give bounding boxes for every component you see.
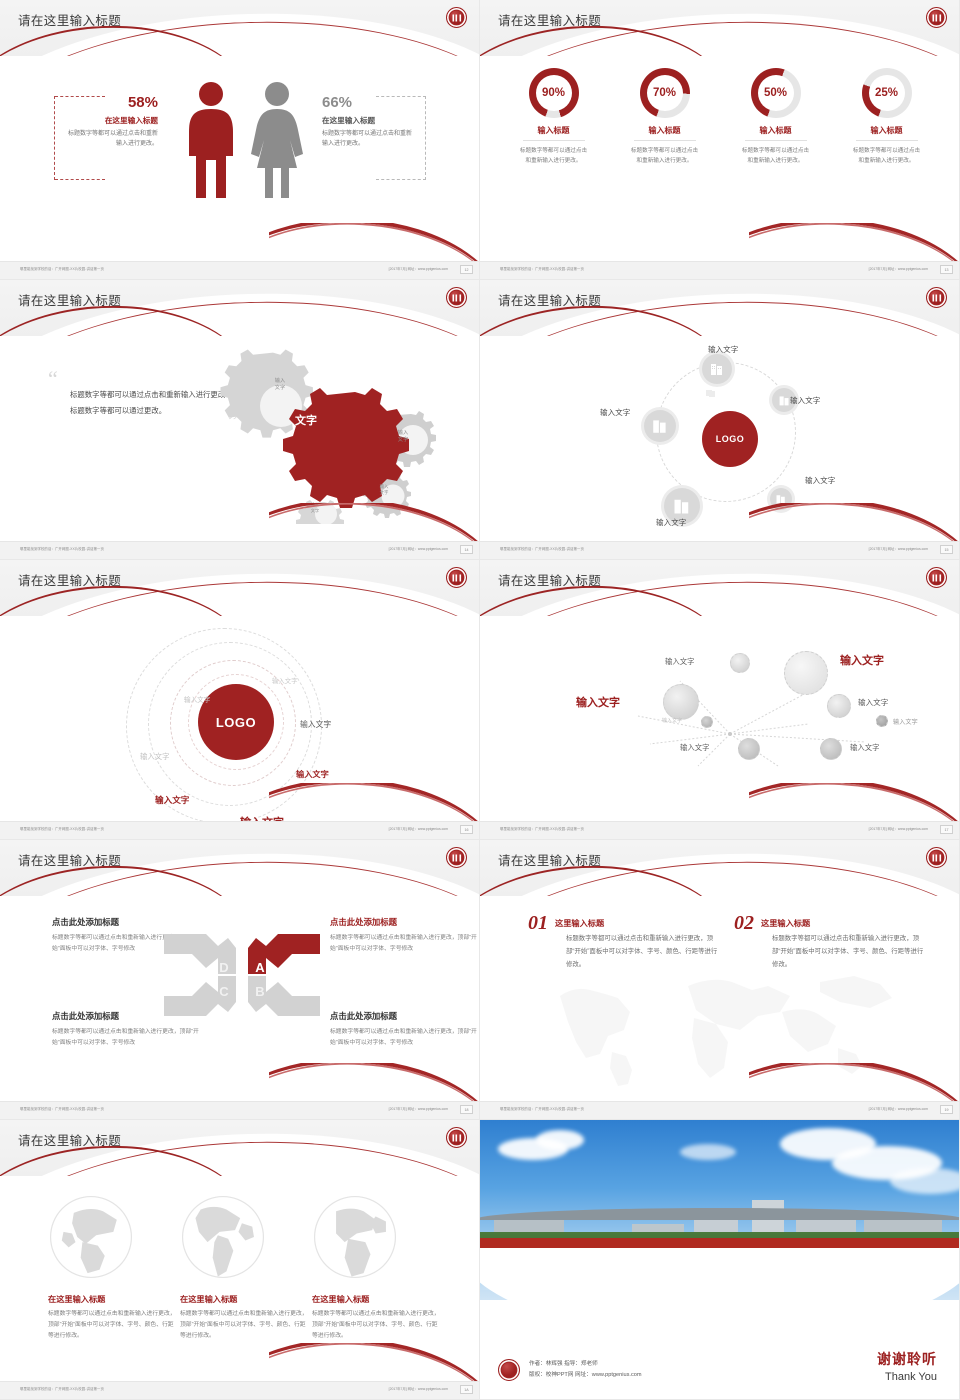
university-seal-icon xyxy=(446,847,467,868)
svg-text:C: C xyxy=(219,984,229,999)
female-figure-icon xyxy=(248,80,306,200)
hub-label-left: 输入文字 xyxy=(600,407,630,418)
orbit-label-1: 输入文字 xyxy=(272,676,298,685)
donut-item[interactable]: 50% 输入标题 标题数字等都可以通过点击和重新输入进行更改。 xyxy=(726,68,826,166)
network-node-4[interactable] xyxy=(827,694,851,718)
page-title: 请在这里输入标题 xyxy=(18,850,121,869)
point-block-02[interactable]: 02 这里输入标题 标题数字等都可以通过点击和重新输入进行更改，顶部“开始”面板… xyxy=(734,912,924,971)
page-number: 18 xyxy=(460,1105,473,1114)
cloud-2 xyxy=(536,1130,584,1150)
donut-heading: 输入标题 xyxy=(634,125,696,141)
quadrant-heading: 点击此处添加标题 xyxy=(330,1010,480,1022)
campus-photo xyxy=(480,1120,960,1300)
network-label-5: 输入文字 xyxy=(662,717,682,724)
footer-left-text: 哪里能找到学校的话：广开网图-XX片校园-讲话第一页 xyxy=(500,1106,584,1111)
slide-footer: 哪里能找到学校的话：广开网图-XX片校园-讲话第一页 [2017年7月] 网址：… xyxy=(0,1381,480,1399)
footer-right-text: [2017年7月] 网址：www.pptgenius.com xyxy=(869,266,928,271)
male-percent: 58% xyxy=(68,94,158,111)
point-number: 02 xyxy=(734,912,754,935)
male-heading: 在这里输入标题 xyxy=(68,115,158,126)
credit-text: 作者：林辉强 指导：郑老师 版权：校神PPT网 网址：www.pptgenius… xyxy=(529,1359,642,1380)
thanks-area: 谢谢聆听 Thank You xyxy=(877,1349,937,1383)
university-seal-icon xyxy=(446,287,467,308)
slide-deck-grid: 请在这里输入标题 58% 在这里输入标题 标题数字等都可以通过点击和重新输入进行… xyxy=(0,0,960,1400)
donut-value: 50% xyxy=(751,68,801,118)
footer-left-text: 哪里能找到学校的话：广开网图-XX片校园-讲话第一页 xyxy=(500,546,584,551)
thanks-english: Thank You xyxy=(877,1371,937,1383)
gear-center-label: 文字 xyxy=(278,412,334,428)
slide-7-four-quadrant[interactable]: 请在这里输入标题 点击此处添加标题 标题数字等都可以通过点击和重新输入进行更改，… xyxy=(0,840,480,1120)
point-body: 标题数字等都可以通过点击和重新输入进行更改，顶部“开始”面板中可以对字体、字号、… xyxy=(772,933,924,971)
gear-cluster-graphic xyxy=(215,344,465,524)
network-label-3: 输入文字 xyxy=(576,694,620,710)
quote-text: 标题数字等都可以通过点击和重新输入进行更改标题数字等都可以通过更改。 xyxy=(70,387,228,418)
female-heading: 在这里输入标题 xyxy=(322,115,412,126)
university-seal-icon xyxy=(446,567,467,588)
svg-text:D: D xyxy=(219,960,228,975)
footer-right-text: [2017年7月] 网址：www.pptgenius.com xyxy=(389,266,448,271)
globe-heading: 在这里输入标题 xyxy=(48,1293,178,1305)
slide-10-thank-you[interactable]: 作者：林辉强 指导：郑老师 版权：校神PPT网 网址：www.pptgenius… xyxy=(480,1120,960,1400)
quadrant-body: 标题数字等都可以通过点击和重新输入进行更改，顶部“开始”面板中可以对字体、字号修… xyxy=(330,933,480,954)
slide-body: “ 标题数字等都可以通过点击和重新输入进行更改标题数字等都可以通过更改。 ” xyxy=(0,336,480,542)
slide-footer: 哪里能找到学校的话：广开网图-XX片校园-讲话第一页 [2017年7月] 网址：… xyxy=(0,541,480,559)
university-seal-icon xyxy=(926,7,947,28)
slide-8-two-points[interactable]: 请在这里输入标题 01 这里输入标题 xyxy=(480,840,960,1120)
slide-1-gender-stats[interactable]: 请在这里输入标题 58% 在这里输入标题 标题数字等都可以通过点击和重新输入进行… xyxy=(0,0,480,280)
donut-ring-50: 50% xyxy=(751,68,801,118)
quadrant-heading: 点击此处添加标题 xyxy=(330,916,480,928)
female-percent: 66% xyxy=(322,94,412,111)
hub-label-bottom: 输入文字 xyxy=(656,517,686,528)
donut-ring-25: 25% xyxy=(862,68,912,118)
slide-footer: 哪里能找到学校的话：广开网图-XX片校园-讲话第一页 [2017年7月] 网址：… xyxy=(0,821,480,839)
globe-heading: 在这里输入标题 xyxy=(312,1293,442,1305)
network-node-3[interactable] xyxy=(663,684,699,720)
donut-body: 标题数字等都可以通过点击和重新输入进行更改。 xyxy=(726,146,826,166)
svg-text:A: A xyxy=(255,960,265,975)
globe-body: 标题数字等都可以通过点击和重新输入进行更改，顶部“开始”面板中可以对字体、字号、… xyxy=(312,1309,442,1342)
network-node-1[interactable] xyxy=(730,653,750,673)
page-number: 16 xyxy=(460,825,473,834)
slide-body: 58% 在这里输入标题 标题数字等都可以通过点击和重新输入进行更改。 66% 在… xyxy=(0,56,480,262)
point-body: 标题数字等都可以通过点击和重新输入进行更改，顶部“开始”面板中可以对字体、字号、… xyxy=(566,933,718,971)
credit-line-copyright: 版权：校神PPT网 网址：www.pptgenius.com xyxy=(529,1370,642,1381)
donut-body: 标题数字等都可以通过点击和重新输入进行更改。 xyxy=(837,146,937,166)
footer-left-text: 哪里能找到学校的话：广开网图-XX片校园-讲话第一页 xyxy=(20,1386,104,1391)
slide-body: 点击此处添加标题 标题数字等都可以通过点击和重新输入进行更改，顶部“开始”面板中… xyxy=(0,896,480,1102)
donut-item[interactable]: 70% 输入标题 标题数字等都可以通过点击和重新输入进行更改。 xyxy=(615,68,715,166)
page-title: 请在这里输入标题 xyxy=(498,290,601,309)
network-node-7[interactable] xyxy=(738,738,760,760)
slide-body: 输入文字 输入文字 输入文字 输入文字 输入文字 输入文字 输入文字 输入文字 xyxy=(480,616,960,822)
quote-open-icon: “ xyxy=(48,372,228,385)
network-label-6: 输入文字 xyxy=(893,717,918,726)
donut-value: 25% xyxy=(862,68,912,118)
thanks-chinese: 谢谢聆听 xyxy=(877,1349,937,1369)
hub-node-right-bottom[interactable] xyxy=(770,488,792,510)
building-icon xyxy=(775,493,787,505)
globe-asia-icon xyxy=(48,1194,134,1280)
slide-2-donut-stats[interactable]: 请在这里输入标题 90% 输入标题 标题数字等都可以通过点击和重新输入进行更改。… xyxy=(480,0,960,280)
globe-block-2[interactable]: 在这里输入标题 标题数字等都可以通过点击和重新输入进行更改，顶部“开始”面板中可… xyxy=(180,1194,310,1342)
world-map-background xyxy=(520,956,920,1086)
slide-4-logo-hub[interactable]: 请在这里输入标题 LOGO 输入文字 输入文字 xyxy=(480,280,960,560)
network-node-8[interactable] xyxy=(820,738,842,760)
male-figure-icon xyxy=(182,80,240,200)
page-title: 请在这里输入标题 xyxy=(18,10,121,29)
globe-africa-icon xyxy=(312,1194,398,1280)
university-seal-icon xyxy=(446,1127,467,1148)
network-label-2: 输入文字 xyxy=(840,652,884,668)
people-infographic: 58% 在这里输入标题 标题数字等都可以通过点击和重新输入进行更改。 66% 在… xyxy=(40,74,440,224)
quadrant-heading: 点击此处添加标题 xyxy=(52,916,202,928)
abcd-arrow-graphic: D A C B xyxy=(162,928,322,1022)
quadrant-body: 标题数字等都可以通过点击和重新输入进行更改，顶部“开始”面板中可以对字体、字号修… xyxy=(330,1027,480,1048)
globe-body: 标题数字等都可以通过点击和重新输入进行更改，顶部“开始”面板中可以对字体、字号、… xyxy=(180,1309,310,1342)
hub-label-right-bottom: 输入文字 xyxy=(805,475,835,486)
university-seal-icon xyxy=(926,287,947,308)
page-number: 14 xyxy=(460,545,473,554)
slide-footer: 哪里能找到学校的话：广开网图-XX片校园-讲话第一页 [2017年7月] 网址：… xyxy=(480,541,960,559)
donut-chart-row: 90% 输入标题 标题数字等都可以通过点击和重新输入进行更改。 70% 输入标题… xyxy=(498,68,942,166)
university-seal-icon xyxy=(926,567,947,588)
network-node-5[interactable] xyxy=(701,716,713,728)
footer-right-text: [2017年7月] 网址：www.pptgenius.com xyxy=(869,1106,928,1111)
donut-body: 标题数字等都可以通过点击和重新输入进行更改。 xyxy=(504,146,604,166)
network-label-7: 输入文字 xyxy=(680,742,710,753)
orbit-label-4: 输入文字 xyxy=(140,751,170,762)
footer-right-text: [2017年7月] 网址：www.pptgenius.com xyxy=(389,826,448,831)
university-seal-icon xyxy=(926,847,947,868)
svg-text:B: B xyxy=(255,984,264,999)
donut-item[interactable]: 90% 输入标题 标题数字等都可以通过点击和重新输入进行更改。 xyxy=(504,68,604,166)
photo-white-curve xyxy=(480,1248,960,1300)
globe-heading: 在这里输入标题 xyxy=(180,1293,310,1305)
building-icon xyxy=(651,417,669,435)
donut-ring-90: 90% xyxy=(529,68,579,118)
female-stat-column[interactable]: 66% 在这里输入标题 标题数字等都可以通过点击和重新输入进行更改。 xyxy=(322,94,412,150)
slide-5-concentric-logo[interactable]: 请在这里输入标题 LOGO 输入文字 输入文字 输入文字 输入文字 输入文字 输… xyxy=(0,560,480,840)
page-title: 请在这里输入标题 xyxy=(498,850,601,869)
page-title: 请在这里输入标题 xyxy=(498,10,601,29)
slide-body: 90% 输入标题 标题数字等都可以通过点击和重新输入进行更改。 70% 输入标题… xyxy=(480,56,960,262)
network-node-2[interactable] xyxy=(784,651,828,695)
slide-footer: 哪里能找到学校的话：广开网图-XX片校园-讲话第一页 [2017年7月] 网址：… xyxy=(480,1101,960,1119)
footer-left-text: 哪里能找到学校的话：广开网图-XX片校园-讲话第一页 xyxy=(20,546,104,551)
network-label-1: 输入文字 xyxy=(665,656,695,667)
hub-node-left[interactable] xyxy=(644,410,676,442)
slide-body: 在这里输入标题 标题数字等都可以通过点击和重新输入进行更改，顶部“开始”面板中可… xyxy=(0,1176,480,1382)
footer-left-text: 哪里能找到学校的话：广开网图-XX片校园-讲话第一页 xyxy=(20,826,104,831)
hub-label-right-top: 输入文字 xyxy=(790,395,820,406)
page-number: 19 xyxy=(940,1105,953,1114)
male-body: 标题数字等都可以通过点击和重新输入进行更改。 xyxy=(68,130,158,150)
cloud-3 xyxy=(680,1144,736,1160)
donut-value: 90% xyxy=(529,68,579,118)
globe-americas-icon xyxy=(180,1194,266,1280)
quote-block: “ 标题数字等都可以通过点击和重新输入进行更改标题数字等都可以通过更改。 ” xyxy=(48,372,228,425)
network-label-4: 输入文字 xyxy=(858,697,888,708)
footer-right-text: [2017年7月] 网址：www.pptgenius.com xyxy=(389,1106,448,1111)
page-number: 1A xyxy=(460,1385,473,1394)
donut-item[interactable]: 25% 输入标题 标题数字等都可以通过点击和重新输入进行更改。 xyxy=(837,68,937,166)
globe-body: 标题数字等都可以通过点击和重新输入进行更改，顶部“开始”面板中可以对字体、字号、… xyxy=(48,1309,178,1342)
page-number: 13 xyxy=(940,265,953,274)
footer-left-text: 哪里能找到学校的话：广开网图-XX片校园-讲话第一页 xyxy=(20,1106,104,1111)
page-number: 15 xyxy=(940,545,953,554)
slide-footer: 哪里能找到学校的话：广开网图-XX片校园-讲话第一页 [2017年7月] 网址：… xyxy=(480,821,960,839)
orbit-label-6: 输入文字 xyxy=(155,794,189,806)
quadrant-block-bottom-right[interactable]: 点击此处添加标题 标题数字等都可以通过点击和重新输入进行更改，顶部“开始”面板中… xyxy=(330,1010,480,1048)
point-number: 01 xyxy=(528,912,548,935)
footer-left-text: 哪里能找到学校的话：广开网图-XX片校园-讲话第一页 xyxy=(500,826,584,831)
gear-label-top: 输入文字 xyxy=(258,378,302,392)
slide-footer: 哪里能找到学校的话：广开网图-XX片校园-讲话第一页 [2017年7月] 网址：… xyxy=(0,1101,480,1119)
quote-close-icon: ” xyxy=(48,418,238,425)
donut-body: 标题数字等都可以通过点击和重新输入进行更改。 xyxy=(615,146,715,166)
page-title: 请在这里输入标题 xyxy=(18,1130,121,1149)
donut-heading: 输入标题 xyxy=(523,125,585,141)
university-seal-icon xyxy=(446,7,467,28)
slide-body: LOGO 输入文字 输入文字 输入文字 输入文字 输入文字 xyxy=(480,336,960,542)
orbit-label-3: 输入文字 xyxy=(300,719,331,730)
donut-ring-70: 70% xyxy=(640,68,690,118)
page-number: 17 xyxy=(940,825,953,834)
footer-right-text: [2017年7月] 网址：www.pptgenius.com xyxy=(869,546,928,551)
network-node-6[interactable] xyxy=(876,715,888,727)
credit-area: 作者：林辉强 指导：郑老师 版权：校神PPT网 网址：www.pptgenius… xyxy=(498,1359,642,1381)
quadrant-block-top-right[interactable]: 点击此处添加标题 标题数字等都可以通过点击和重新输入进行更改，顶部“开始”面板中… xyxy=(330,916,480,954)
orbit-label-2: 输入文字 xyxy=(184,694,210,704)
slide-3-gears[interactable]: 请在这里输入标题 “ 标题数字等都可以通过点击和重新输入进行更改标题数字等都可以… xyxy=(0,280,480,560)
hub-label-top: 输入文字 xyxy=(708,344,738,355)
footer-right-text: [2017年7月] 网址：www.pptgenius.com xyxy=(389,546,448,551)
slide-footer: 哪里能找到学校的话：广开网图-XX片校园-讲话第一页 [2017年7月] 网址：… xyxy=(480,261,960,279)
center-logo[interactable]: LOGO xyxy=(702,411,758,467)
male-stat-column[interactable]: 58% 在这里输入标题 标题数字等都可以通过点击和重新输入进行更改。 xyxy=(68,94,158,150)
slide-footer: 哪里能找到学校的话：广开网图-XX片校园-讲话第一页 [2017年7月] 网址：… xyxy=(0,261,480,279)
footer-left-text: 哪里能找到学校的话：广开网图-XX片校园-讲话第一页 xyxy=(20,266,104,271)
cloud-6 xyxy=(890,1168,960,1194)
page-title: 请在这里输入标题 xyxy=(498,570,601,589)
network-label-8: 输入文字 xyxy=(850,742,880,753)
university-seal-icon xyxy=(498,1359,520,1381)
donut-value: 70% xyxy=(640,68,690,118)
slide-6-network[interactable]: 请在这里输入标题 xyxy=(480,560,960,840)
building-icon xyxy=(672,496,692,516)
page-title: 请在这里输入标题 xyxy=(18,290,121,309)
credit-line-author: 作者：林辉强 指导：郑老师 xyxy=(529,1359,642,1370)
point-heading: 这里输入标题 xyxy=(555,917,604,929)
hub-node-top[interactable] xyxy=(702,354,732,384)
page-number: 12 xyxy=(460,265,473,274)
footer-right-text: [2017年7月] 网址：www.pptgenius.com xyxy=(869,826,928,831)
point-heading: 这里输入标题 xyxy=(761,917,810,929)
globe-block-1[interactable]: 在这里输入标题 标题数字等都可以通过点击和重新输入进行更改，顶部“开始”面板中可… xyxy=(48,1194,178,1342)
right-bracket xyxy=(425,96,426,180)
building-icon xyxy=(778,394,791,407)
quadrant-body: 标题数字等都可以通过点击和重新输入进行更改，顶部“开始”面板中可以对字体、字号修… xyxy=(52,1027,202,1048)
left-bracket xyxy=(54,96,55,180)
building-icon xyxy=(709,361,725,377)
gear-label-lower-right: 输入文字 xyxy=(366,484,402,496)
slide-body: LOGO 输入文字 输入文字 输入文字 输入文字 输入文字 输入文字 输入文字 xyxy=(0,616,480,822)
female-body: 标题数字等都可以通过点击和重新输入进行更改。 xyxy=(322,130,412,150)
slide-body: 01 这里输入标题 标题数字等都可以通过点击和重新输入进行更改，顶部“开始”面板… xyxy=(480,896,960,1102)
donut-heading: 输入标题 xyxy=(745,125,807,141)
page-title: 请在这里输入标题 xyxy=(18,570,121,589)
donut-heading: 输入标题 xyxy=(856,125,918,141)
footer-left-text: 哪里能找到学校的话：广开网图-XX片校园-讲话第一页 xyxy=(500,266,584,271)
footer-right-text: [2017年7月] 网址：www.pptgenius.com xyxy=(389,1386,448,1391)
slide-9-globes[interactable]: 请在这里输入标题 在这里输入标题 标题数字等都可以通过点击和重新输入进行更改，顶… xyxy=(0,1120,480,1400)
globe-block-3[interactable]: 在这里输入标题 标题数字等都可以通过点击和重新输入进行更改，顶部“开始”面板中可… xyxy=(312,1194,442,1342)
gear-label-right: 输入文字 xyxy=(383,430,423,444)
orbit-label-5: 输入文字 xyxy=(296,768,329,780)
gear-label-bottom: 输入文字 xyxy=(298,502,332,513)
point-block-01[interactable]: 01 这里输入标题 标题数字等都可以通过点击和重新输入进行更改，顶部“开始”面板… xyxy=(528,912,718,971)
